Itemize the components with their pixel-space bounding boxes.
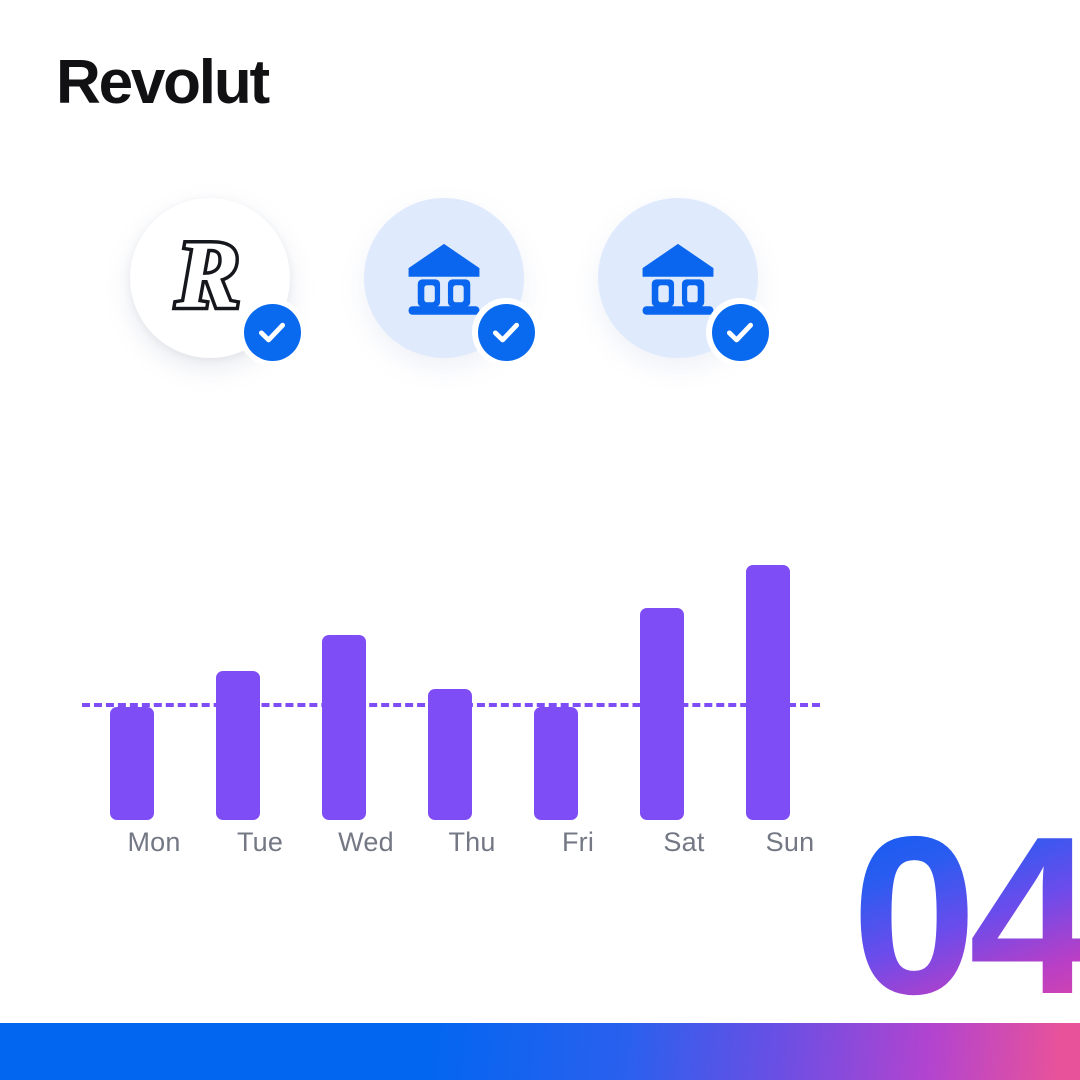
bank-icon [402,236,486,320]
bank-icon [636,236,720,320]
chart-x-label: Tue [200,828,320,858]
chart-bar[interactable] [534,707,578,820]
chart-x-axis-labels: MonTueWedThuFriSatSun [80,828,840,874]
chart-bar[interactable] [640,608,684,820]
check-icon [478,304,535,361]
slide-number: 04 [852,803,1080,1028]
chart-x-label: Fri [518,828,638,858]
chart-bar[interactable] [746,565,790,820]
check-icon [244,304,301,361]
account-badge-revolut[interactable]: R [130,198,290,358]
bottom-accent-bar [0,1023,1080,1080]
slide-canvas: Revolut R [0,0,1080,1080]
chart-x-label: Sun [730,828,850,858]
chart-x-label: Mon [94,828,214,858]
verified-badge-bank-2 [706,298,774,366]
verified-badge-bank-1 [472,298,540,366]
revolut-r-icon: R [176,227,240,323]
chart-plot-area [80,540,840,820]
check-icon [712,304,769,361]
verified-badge-revolut [238,298,306,366]
account-badge-bank-1[interactable] [364,198,524,358]
verified-accounts-row: R [0,198,1080,398]
chart-bar[interactable] [110,707,154,820]
chart-bar[interactable] [428,689,472,820]
chart-x-label: Thu [412,828,532,858]
revolut-wordmark: Revolut [56,52,268,114]
weekly-bar-chart: MonTueWedThuFriSatSun [80,540,840,880]
chart-x-label: Sat [624,828,744,858]
chart-bar[interactable] [322,635,366,820]
account-badge-bank-2[interactable] [598,198,758,358]
chart-x-label: Wed [306,828,426,858]
chart-bar[interactable] [216,671,260,820]
